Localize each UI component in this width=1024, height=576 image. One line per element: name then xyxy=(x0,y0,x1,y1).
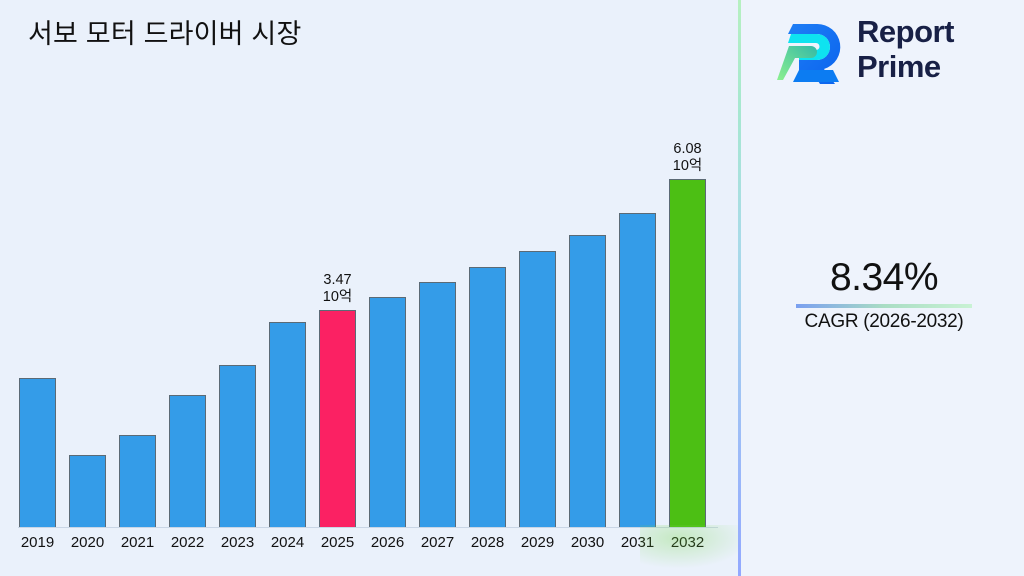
brand-logo: Report Prime xyxy=(777,14,1005,94)
bar-2022[interactable] xyxy=(169,120,206,530)
cagr-block: 8.34% CAGR (2026-2032) xyxy=(753,256,1015,333)
bar-rect-2023[interactable] xyxy=(219,365,256,527)
bar-rect-2021[interactable] xyxy=(119,435,156,527)
bar-2027[interactable] xyxy=(419,120,456,530)
bar-rect-2025[interactable] xyxy=(319,310,356,527)
bar-2024[interactable] xyxy=(269,120,306,530)
bar-2026[interactable] xyxy=(369,120,406,530)
chart-panel: 서보 모터 드라이버 시장 3.4710억6.0810억 20192020202… xyxy=(0,0,738,576)
bar-value-label-2032: 6.0810억 xyxy=(656,141,719,175)
x-axis-tick-labels: 2019202020212022202320242025202620272028… xyxy=(0,530,738,560)
report-prime-logo-icon xyxy=(777,18,849,90)
bar-rect-2028[interactable] xyxy=(469,267,506,527)
bar-rect-2022[interactable] xyxy=(169,395,206,527)
bar-value-label-2025: 3.4710억 xyxy=(306,272,369,306)
cagr-value: 8.34% xyxy=(753,256,1015,300)
bar-2025[interactable]: 3.4710억 xyxy=(319,120,356,530)
bar-2019[interactable] xyxy=(19,120,56,530)
brand-name-line2: Prime xyxy=(857,49,954,84)
bar-rect-2032[interactable] xyxy=(669,179,706,527)
cagr-caption: CAGR (2026-2032) xyxy=(753,311,1015,333)
bar-chart-plot-area: 3.4710억6.0810억 xyxy=(0,120,738,530)
cagr-divider-rule xyxy=(796,304,972,308)
bar-2030[interactable] xyxy=(569,120,606,530)
bar-value-unit: 10억 xyxy=(656,158,719,175)
brand-name: Report Prime xyxy=(857,14,954,84)
bar-value-number: 6.08 xyxy=(656,141,719,158)
bar-rect-2027[interactable] xyxy=(419,282,456,527)
bar-2029[interactable] xyxy=(519,120,556,530)
bar-rect-2024[interactable] xyxy=(269,322,306,527)
bar-2020[interactable] xyxy=(69,120,106,530)
bar-rect-2029[interactable] xyxy=(519,251,556,527)
bar-rect-2026[interactable] xyxy=(369,297,406,527)
bar-value-unit: 10억 xyxy=(306,289,369,306)
bar-2021[interactable] xyxy=(119,120,156,530)
bar-2031[interactable] xyxy=(619,120,656,530)
bar-2028[interactable] xyxy=(469,120,506,530)
side-panel: Report Prime 8.34% CAGR (2026-2032) xyxy=(741,0,1024,576)
brand-name-line1: Report xyxy=(857,14,954,49)
x-tick-2032: 2032 xyxy=(656,534,719,551)
chart-title: 서보 모터 드라이버 시장 xyxy=(28,12,302,51)
bar-rect-2031[interactable] xyxy=(619,213,656,527)
bar-2023[interactable] xyxy=(219,120,256,530)
bar-2032[interactable]: 6.0810억 xyxy=(669,120,706,530)
bar-rect-2030[interactable] xyxy=(569,235,606,527)
bar-value-number: 3.47 xyxy=(306,272,369,289)
bar-rect-2020[interactable] xyxy=(69,455,106,527)
axis-baseline xyxy=(18,527,718,528)
bar-rect-2019[interactable] xyxy=(19,378,56,527)
